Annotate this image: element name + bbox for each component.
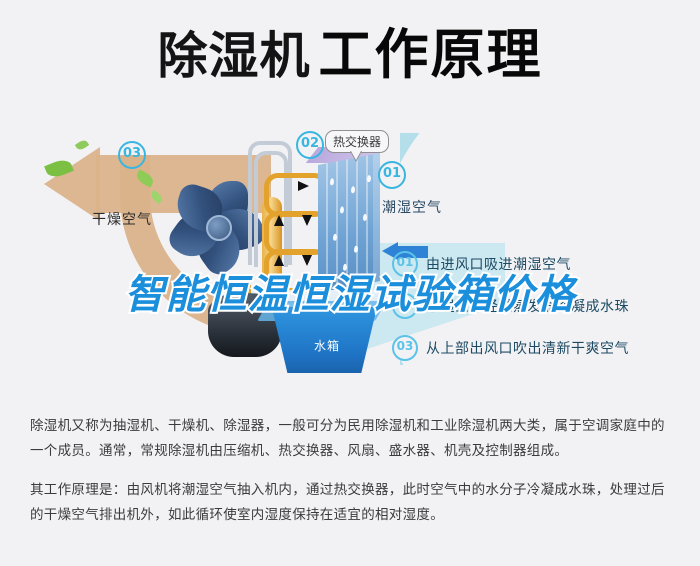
- badge-dry-air: 03: [118, 141, 146, 169]
- title-part-one: 除湿机: [158, 27, 311, 85]
- page-title: 除湿机工作原理: [0, 28, 700, 82]
- list-item: 03 从上部出风口吹出清新干爽空气: [392, 327, 692, 369]
- paragraph-two: 其工作原理是：由风机将潮湿空气抽入机内，通过热交换器，此时空气中的水分子冷凝成水…: [30, 478, 676, 528]
- paragraph-one: 除湿机又称为抽湿机、干燥机、除湿器，一般可分为民用除湿机和工业除湿机两大类，属于…: [30, 414, 676, 464]
- watermark-text: 智能恒温恒湿试验箱价格: [0, 262, 700, 320]
- label-dry-air: 干燥空气: [92, 209, 152, 229]
- callout-pointer: [350, 151, 362, 162]
- badge-humid-air: 01: [378, 161, 406, 189]
- water-tank-label: 水箱: [292, 337, 362, 354]
- label-humid-air: 潮湿空气: [382, 197, 442, 217]
- description-block: 除湿机又称为抽湿机、干燥机、除湿器，一般可分为民用除湿机和工业除湿机两大类，属于…: [30, 414, 676, 542]
- step-text: 从上部出风口吹出清新干爽空气: [426, 338, 629, 358]
- badge-heat-exchanger: 02: [296, 131, 324, 159]
- infographic-page: 除湿机工作原理: [0, 0, 700, 566]
- step-number: 03: [392, 335, 418, 361]
- title-part-two: 工作原理: [319, 23, 543, 86]
- callout-heat-exchanger: 热交换器: [325, 130, 389, 153]
